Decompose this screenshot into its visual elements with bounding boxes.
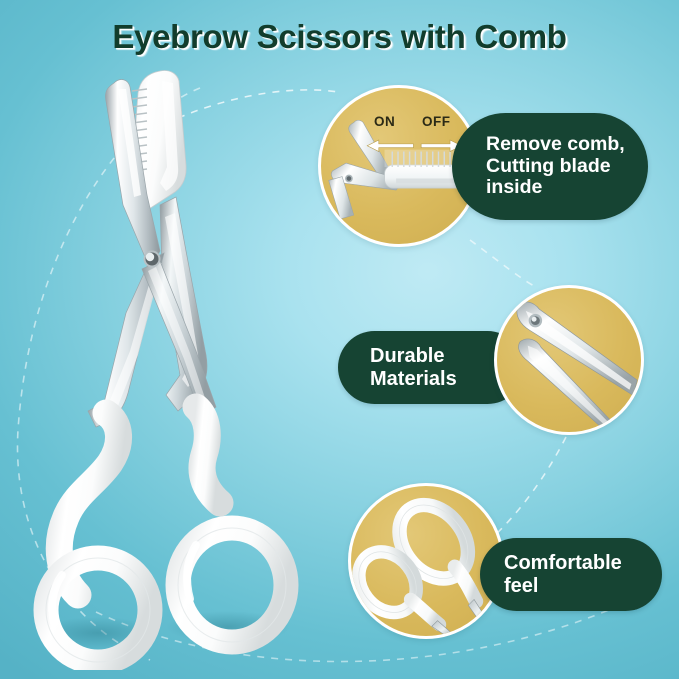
pivot-screw (144, 251, 161, 268)
callout-2-line-1: Durable (370, 345, 457, 367)
callout-label-remove-comb: Remove comb, Cutting blade inside (452, 113, 648, 220)
callout-circle-durable-materials (494, 285, 644, 435)
callout-circle-comfortable-feel (348, 483, 504, 639)
callout-3-line-1: Comfortable (504, 552, 622, 574)
product-image-scissors (10, 55, 310, 670)
callout-1-line-1: Remove comb, (486, 134, 625, 156)
callout-label-comfortable-feel: Comfortable feel (480, 538, 662, 611)
right-handle-ring (178, 407, 286, 642)
off-label: OFF (422, 114, 451, 129)
callout-1-line-2: Cutting blade (486, 156, 625, 178)
page-title: Eyebrow Scissors with Comb (0, 18, 679, 56)
product-infographic: Eyebrow Scissors with Comb (0, 0, 679, 679)
callout-3-line-2: feel (504, 575, 622, 597)
on-label: ON (374, 114, 395, 129)
callout-1-line-3: inside (486, 177, 625, 199)
callout-2-illustration (497, 288, 641, 432)
callout-3-illustration (351, 486, 501, 636)
callout-2-line-2: Materials (370, 368, 457, 390)
